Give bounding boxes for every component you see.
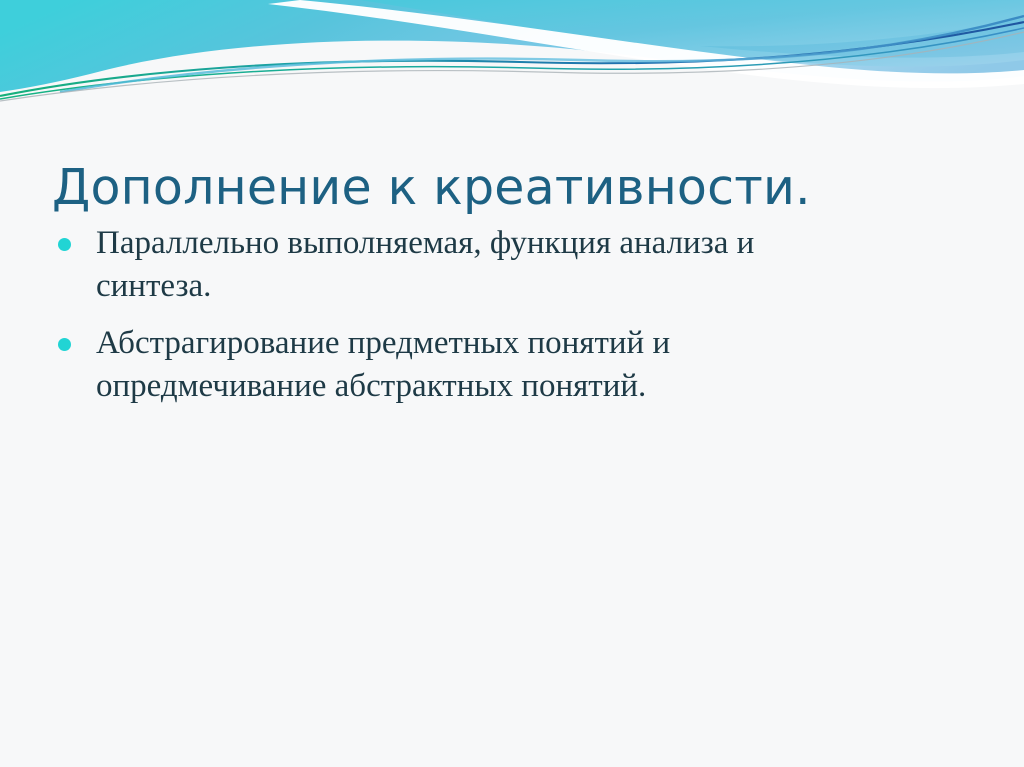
slide-title: Дополнение к креативности. [52,161,982,216]
bullet-item-text: Параллельно выполняемая, функция анализа… [96,222,852,308]
bullet-item-text: Абстрагирование предметных понятий и опр… [96,322,852,408]
slide-body-bullet-list: Параллельно выполняемая, функция анализа… [52,222,852,422]
bullet-list-item: Параллельно выполняемая, функция анализа… [52,222,852,308]
bullet-list-item: Абстрагирование предметных понятий и опр… [52,322,852,408]
disc-bullet-icon [58,338,71,351]
presentation-slide: Дополнение к креативности. Параллельно в… [0,0,1024,767]
disc-bullet-icon [58,238,71,251]
flow-wave-banner-art [0,0,1024,112]
